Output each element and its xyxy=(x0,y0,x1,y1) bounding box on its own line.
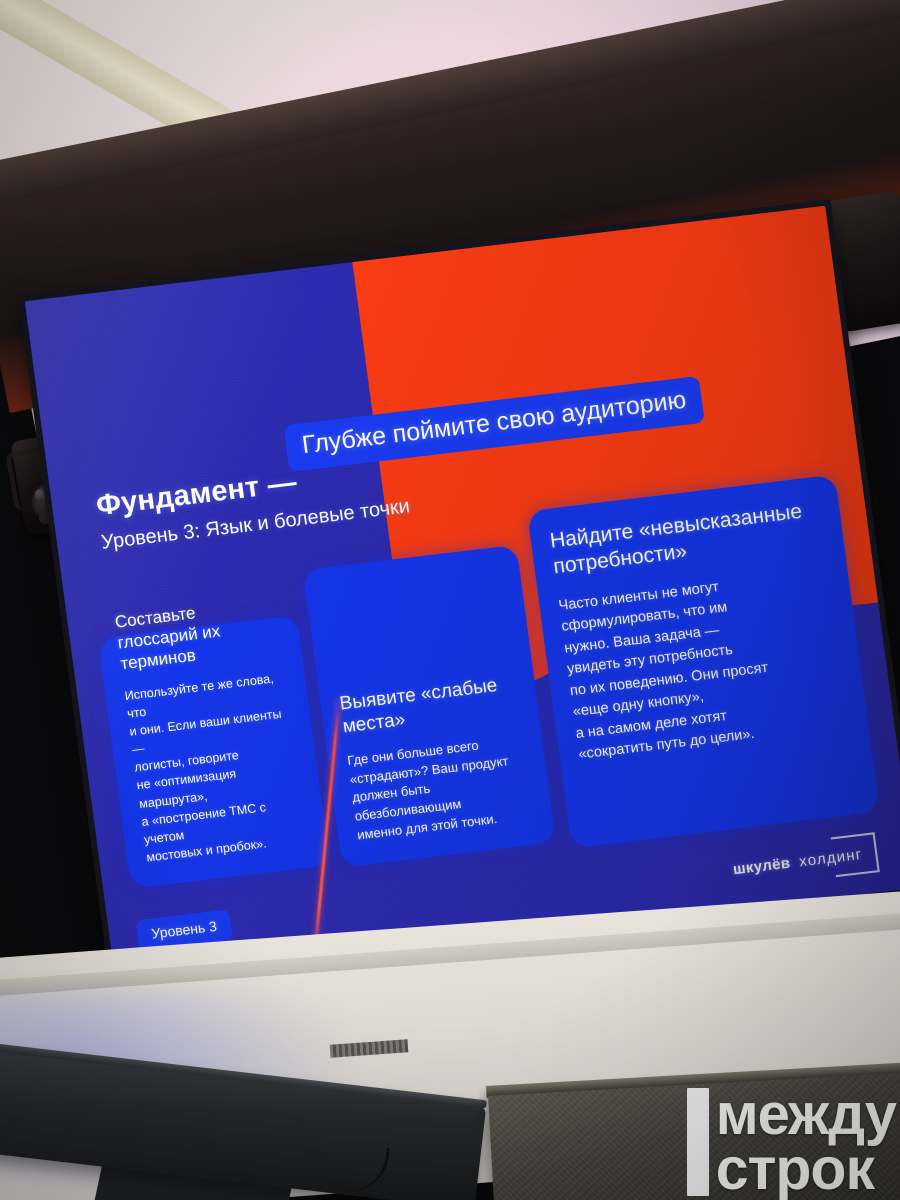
watermark-bar-icon xyxy=(687,1088,709,1196)
photo-scene: Фундамент — Глубже поймите свою аудитори… xyxy=(0,0,900,1200)
watermark: между строк xyxy=(687,1088,896,1196)
card-body: Где они больше всего «страдают»? Ваш про… xyxy=(346,731,534,845)
watermark-line-2: строк xyxy=(716,1142,896,1196)
content-card-unspoken-needs: Найдите «невысказанные потребности» Част… xyxy=(527,475,880,849)
card-heading: Выявите «слабые места» xyxy=(338,672,520,740)
screen-frame: Фундамент — Глубже поймите свою аудитори… xyxy=(18,199,900,990)
slide-title-block: Фундамент — Глубже поймите свою аудитори… xyxy=(94,454,411,555)
watermark-line-1: между xyxy=(716,1088,896,1141)
content-card-weak-spots: Выявите «слабые места» Где они больше вс… xyxy=(303,545,556,868)
content-card-glossary: Составьте глоссарий их терминов Использу… xyxy=(98,615,330,888)
logo-word-primary: шкулёв xyxy=(732,854,792,878)
led-screen: Фундамент — Глубже поймите свою аудитори… xyxy=(18,199,900,990)
card-body: Часто клиенты не могут сформулировать, ч… xyxy=(557,564,850,766)
screen-surface: Фундамент — Глубже поймите свою аудитори… xyxy=(25,206,900,983)
card-heading: Составьте глоссарий их терминов xyxy=(114,592,283,674)
card-body: Используйте те же слова, что и они. Если… xyxy=(124,668,309,867)
logo-bracket-icon xyxy=(831,832,880,877)
brand-logo: шкулёв холдинг xyxy=(730,832,879,889)
watermark-text: между строк xyxy=(716,1088,896,1196)
